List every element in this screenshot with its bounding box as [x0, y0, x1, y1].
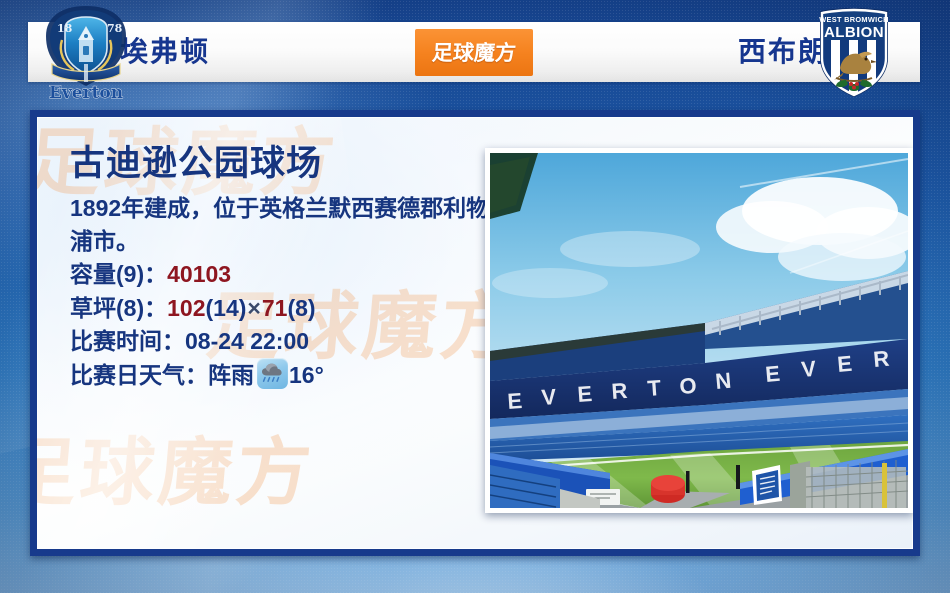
stadium-title: 古迪逊公园球场	[70, 144, 490, 183]
weather-label: 比赛日天气：	[70, 362, 208, 388]
svg-text:N: N	[714, 368, 732, 394]
kickoff-value: 08-24 22:00	[185, 328, 309, 354]
goodison-park-photo: E V E R T O N E V E R	[490, 153, 908, 508]
kickoff-row: 比赛时间：08-24 22:00	[70, 325, 490, 358]
pitch-width-rank: (8)	[287, 295, 315, 321]
pitch-width-value: 71	[262, 295, 288, 321]
pitch-length-rank: (14)	[206, 295, 247, 321]
everton-crest[interactable]: 18 78 Everton	[38, 2, 134, 102]
match-header-bar: 埃弗顿 足球魔方 西布朗	[28, 22, 920, 82]
svg-text:T: T	[647, 375, 663, 401]
crest-wordmark: Everton	[49, 83, 123, 102]
stadium-info-block: 古迪逊公园球场 1892年建成，位于英格兰默西赛德郡利物浦市。 容量(9)：40…	[70, 144, 490, 392]
svg-text:E: E	[577, 381, 593, 407]
crest-club-line2: ALBION	[824, 24, 884, 41]
pitch-row: 草坪(8)：102(14)×71(8)	[70, 292, 490, 325]
crest-year-right: 78	[107, 22, 123, 35]
pitch-label: 草坪(8)：	[70, 295, 167, 321]
pitch-length-value: 102	[167, 295, 205, 321]
svg-text:R: R	[611, 378, 629, 404]
crest-year-left: 18	[57, 22, 73, 35]
stadium-info-panel: 足球魔方 足球魔方 足球魔方 古迪逊公园球场 1892年建成，位于英格兰默西赛德…	[30, 110, 920, 556]
crest-club-line1: WEST BROMWICH	[819, 15, 889, 24]
stadium-description: 1892年建成，位于英格兰默西赛德郡利物浦市。	[70, 192, 490, 258]
svg-text:O: O	[679, 373, 698, 399]
goodison-park-photo-frame[interactable]: E V E R T O N E V E R	[485, 148, 913, 513]
svg-text:E: E	[836, 351, 853, 377]
svg-text:V: V	[800, 356, 817, 382]
weather-row: 比赛日天气：阵雨 16°	[70, 358, 490, 392]
pitch-dimension-separator: ×	[246, 295, 261, 321]
svg-text:E: E	[507, 388, 523, 414]
west-bromwich-albion-crest[interactable]: WEST BROMWICH ALBION	[806, 2, 902, 102]
weather-temperature: 16°	[289, 362, 324, 388]
weather-condition: 阵雨	[208, 362, 254, 388]
svg-text:R: R	[872, 346, 890, 372]
svg-text:E: E	[764, 361, 781, 387]
svg-text:V: V	[541, 384, 558, 410]
brand-label: 足球魔方	[431, 37, 517, 67]
watermark-text: 足球魔方	[37, 413, 320, 520]
capacity-row: 容量(9)：40103	[70, 258, 490, 291]
rain-shower-icon	[257, 358, 288, 389]
kickoff-label: 比赛时间：	[70, 328, 185, 354]
capacity-label: 容量(9)：	[70, 261, 167, 287]
capacity-value: 40103	[167, 261, 231, 287]
brand-badge[interactable]: 足球魔方	[415, 29, 533, 76]
